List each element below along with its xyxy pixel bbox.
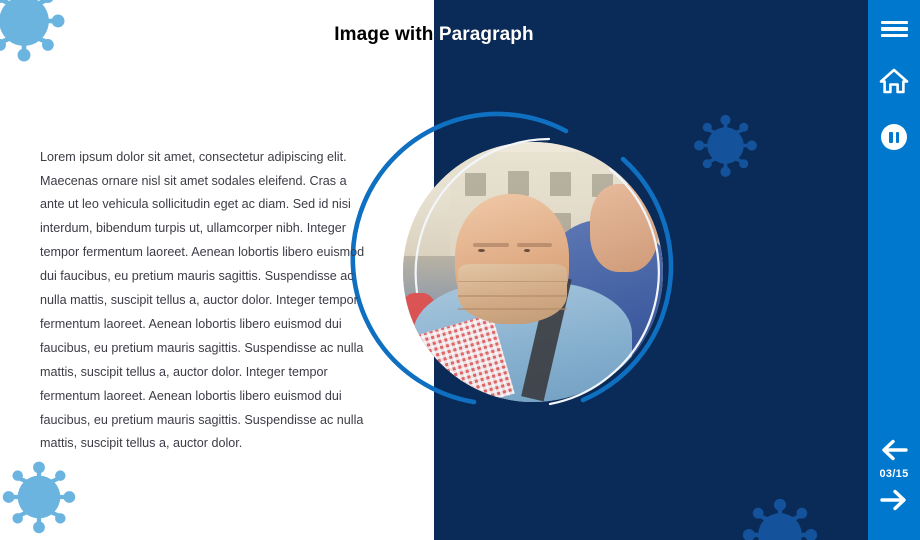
virus-icon-navy-upper [689, 108, 762, 188]
virus-icon-navy-lower [738, 492, 822, 540]
arrow-left-icon [879, 438, 909, 462]
pause-icon [881, 124, 907, 150]
virus-icon-top-left [0, 0, 70, 73]
pause-button[interactable] [868, 120, 920, 154]
next-slide-button[interactable] [868, 485, 920, 515]
ring-arc-white-right [550, 169, 659, 404]
menu-button[interactable] [868, 12, 920, 46]
hamburger-icon [881, 18, 908, 41]
ring-arc-blue-outer [353, 114, 566, 402]
slide-canvas: Image with Paragraph Image with Paragrap… [0, 0, 920, 540]
body-paragraph: Lorem ipsum dolor sit amet, consectetur … [40, 146, 367, 457]
arrow-right-icon [879, 488, 909, 512]
home-button[interactable] [868, 62, 920, 100]
previous-slide-button[interactable] [868, 435, 920, 465]
right-sidebar: 03/15 [868, 0, 920, 540]
decorative-rings [378, 117, 688, 427]
page-counter: 03/15 [868, 468, 920, 480]
home-icon [879, 67, 909, 95]
circular-image-frame [378, 117, 688, 427]
virus-icon-bottom-left [0, 455, 80, 540]
ring-arc-white-top [416, 139, 549, 292]
